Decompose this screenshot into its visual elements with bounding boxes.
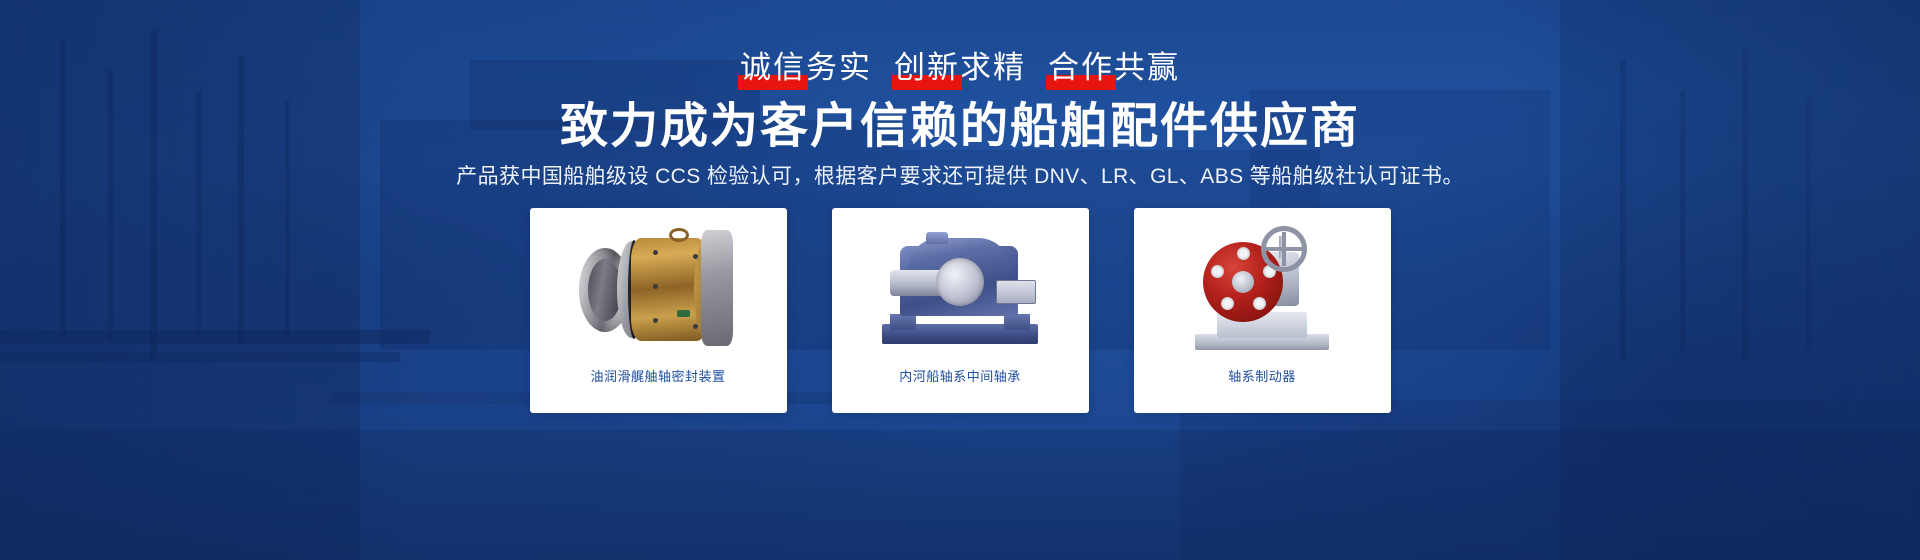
product-card[interactable]: 油润滑艉舳轴密封装置 (530, 208, 787, 413)
tagline-rest: 求精 (960, 50, 1026, 85)
product-card-caption: 内河船轴系中间轴承 (899, 368, 1021, 400)
tagline-highlight: 合作 (1048, 48, 1114, 88)
company-tagline: 诚信务实创新求精合作共赢 (0, 48, 1920, 88)
tagline-highlight: 创新 (894, 48, 960, 88)
banner-content: 诚信务实创新求精合作共赢 致力成为客户信赖的船舶配件供应商 产品获中国船舶级设 … (0, 0, 1920, 560)
hero-banner: 诚信务实创新求精合作共赢 致力成为客户信赖的船舶配件供应商 产品获中国船舶级设 … (0, 0, 1920, 560)
tagline-rest: 务实 (806, 50, 872, 85)
stern-shaft-seal-photo (530, 208, 787, 368)
tagline-segment: 合作共赢 (1048, 48, 1180, 88)
product-card[interactable]: 轴系制动器 (1134, 208, 1391, 413)
product-card[interactable]: 内河船轴系中间轴承 (832, 208, 1089, 413)
tagline-rest: 共赢 (1114, 50, 1180, 85)
certification-subtitle: 产品获中国船舶级设 CCS 检验认可，根据客户要求还可提供 DNV、LR、GL、… (0, 162, 1920, 192)
shaft-brake-photo (1134, 208, 1391, 368)
tagline-highlight: 诚信 (740, 48, 806, 88)
tagline-segment: 诚信务实 (740, 48, 872, 88)
intermediate-bearing-photo (832, 208, 1089, 368)
product-card-caption: 油润滑艉舳轴密封装置 (590, 368, 725, 400)
tagline-segment: 创新求精 (894, 48, 1026, 88)
product-card-caption: 轴系制动器 (1228, 368, 1296, 400)
product-card-list: 油润滑艉舳轴密封装置 内河 (0, 208, 1920, 413)
page-title: 致力成为客户信赖的船舶配件供应商 (0, 98, 1920, 156)
